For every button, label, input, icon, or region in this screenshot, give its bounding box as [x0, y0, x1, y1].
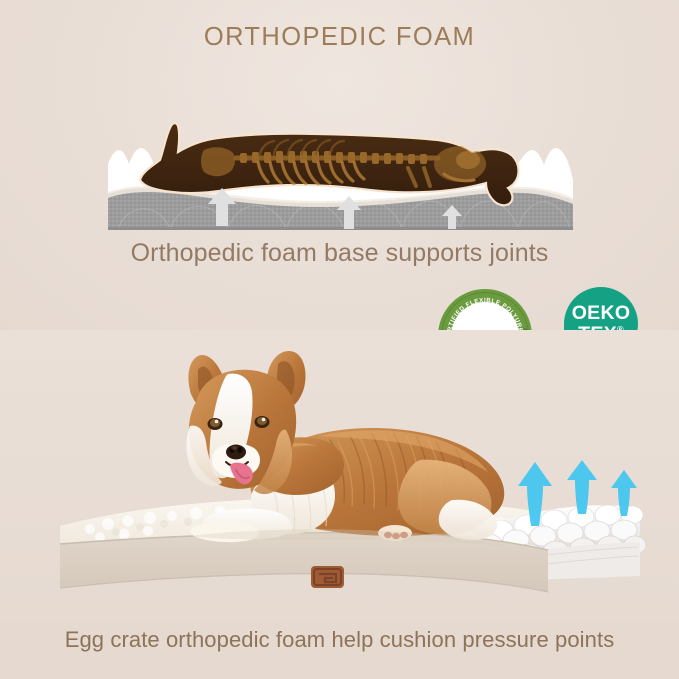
dog-bed-product-photo [0, 330, 679, 620]
dog-head [187, 351, 306, 494]
footer-caption: Egg crate orthopedic foam help cushion p… [0, 627, 679, 653]
diagram-caption: Orthopedic foam base supports joints [0, 239, 679, 268]
page-title: ORTHOPEDIC FOAM [0, 23, 679, 52]
orthopedic-foam-diagram-panel: ORTHOPEDIC FOAM [0, 0, 679, 290]
brand-logo-patch [311, 566, 344, 588]
foam-cross-section-diagram [108, 88, 573, 240]
oeko-line1: OEKO [572, 304, 631, 324]
infographic-canvas: ORTHOPEDIC FOAM [0, 0, 679, 679]
